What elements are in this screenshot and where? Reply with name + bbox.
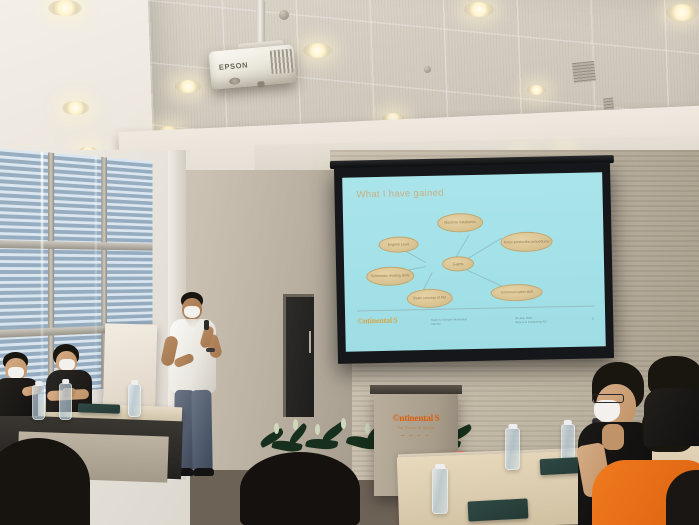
door-handle[interactable] (309, 331, 311, 353)
presenter-clicker[interactable] (204, 320, 209, 330)
mindmap-node-label: Basic concept of PM (413, 296, 446, 301)
smoke-detector-icon (279, 10, 289, 20)
projector-lens (229, 77, 241, 85)
podium-tagline: The Future in Motion (374, 426, 458, 430)
audience-glasses-icon (592, 394, 624, 403)
mindmap-node-center: Gains (442, 256, 474, 272)
ceiling-downlight (666, 4, 698, 21)
bottle-cap (508, 424, 517, 429)
presenter-face-mask (184, 306, 200, 318)
audience-hand (602, 424, 624, 450)
podium-top-surface (370, 385, 462, 394)
plant-bud (341, 418, 346, 429)
ceiling-downlight (175, 80, 201, 93)
ceiling-downlight (464, 2, 494, 17)
door[interactable] (283, 294, 314, 417)
bottle-cap (62, 379, 70, 384)
mindmap-node-label: Schematic reading skills (371, 274, 410, 279)
ceiling-downlight (62, 101, 89, 115)
mindmap-node-communication-skill: Communication skill (490, 284, 542, 302)
mindmap-node-label: English Level (388, 242, 409, 247)
slide-continental-logo: ©ntinental Ѕ (357, 316, 397, 326)
presentation-slide: What I have gained Gains Machine install… (342, 172, 606, 351)
audience-shirt (644, 388, 699, 446)
water-bottle[interactable] (432, 468, 448, 514)
projector-foot (257, 81, 264, 88)
mindmap-node-know-production-procedures: Know production procedures (500, 231, 552, 252)
projector: EPSON (209, 44, 297, 89)
podium-continental-logo: ©ntinental Ѕ (374, 414, 458, 424)
ceiling-downlight (303, 43, 332, 58)
projector-brand-label: EPSON (219, 60, 249, 72)
foreground-audience-right-3 (648, 356, 699, 436)
mindmap-node-basic-concept-pm: Basic concept of PM (407, 288, 453, 308)
mindmap-node-english-level: English Level (378, 236, 418, 253)
sprinkler-icon (424, 66, 431, 73)
presenter-watch (206, 348, 215, 352)
mindmap-node-center-label: Gains (452, 261, 463, 266)
bottle-cap (435, 464, 445, 469)
plant-bud (365, 423, 370, 434)
slide-footer-divider (357, 305, 595, 311)
mindmap-node-label: Know production procedures (504, 239, 550, 244)
mindmap-node-label: Machine installation (444, 220, 476, 225)
slide-page-number: 5 (592, 317, 594, 321)
projection-screen: What I have gained Gains Machine install… (334, 162, 614, 364)
bottle-cap (131, 380, 139, 385)
conference-room-photo: EPSON What I have gained (0, 0, 699, 525)
audience-face-mask (594, 400, 620, 422)
water-bottle[interactable] (32, 385, 45, 420)
mindmap-node-schematic-reading-skills: Schematic reading skills (366, 266, 414, 286)
air-vent (572, 61, 596, 83)
projector-vent (270, 49, 294, 75)
mindmap-node-label: Communication skill (501, 290, 533, 295)
plant-bud (315, 424, 320, 435)
slide-footer-left-line2: Internal (431, 321, 467, 326)
water-bottle[interactable] (59, 383, 72, 420)
bottle-cap (35, 381, 43, 386)
mindmap-node-machine-installation: Machine installation (437, 213, 483, 233)
plant-bud (274, 423, 279, 434)
ceiling-downlight (48, 0, 82, 16)
water-bottle[interactable] (128, 384, 141, 417)
ceiling-downlight (527, 85, 546, 95)
slide-title: What I have gained (356, 188, 443, 201)
slide-footer-copyright: Slide is © Continental AG (515, 320, 547, 325)
plant-bud (293, 419, 298, 430)
presenter-shoe (193, 468, 214, 476)
mindmap-edge (466, 237, 502, 260)
water-bottle[interactable] (505, 428, 520, 470)
slide-footer-right: 30 June 2022 Slide is © Continental AG (515, 315, 547, 324)
podium-logo-bars: ▬ ▬ ▬ ▬ (374, 433, 458, 437)
notebook[interactable] (468, 498, 529, 521)
notebook[interactable] (78, 403, 120, 413)
presenter-jeans (191, 390, 212, 472)
bottle-cap (564, 420, 572, 425)
slide-footer-left: Name for Sender information Internal (431, 317, 467, 326)
foreground-audience-head-left (240, 452, 360, 525)
